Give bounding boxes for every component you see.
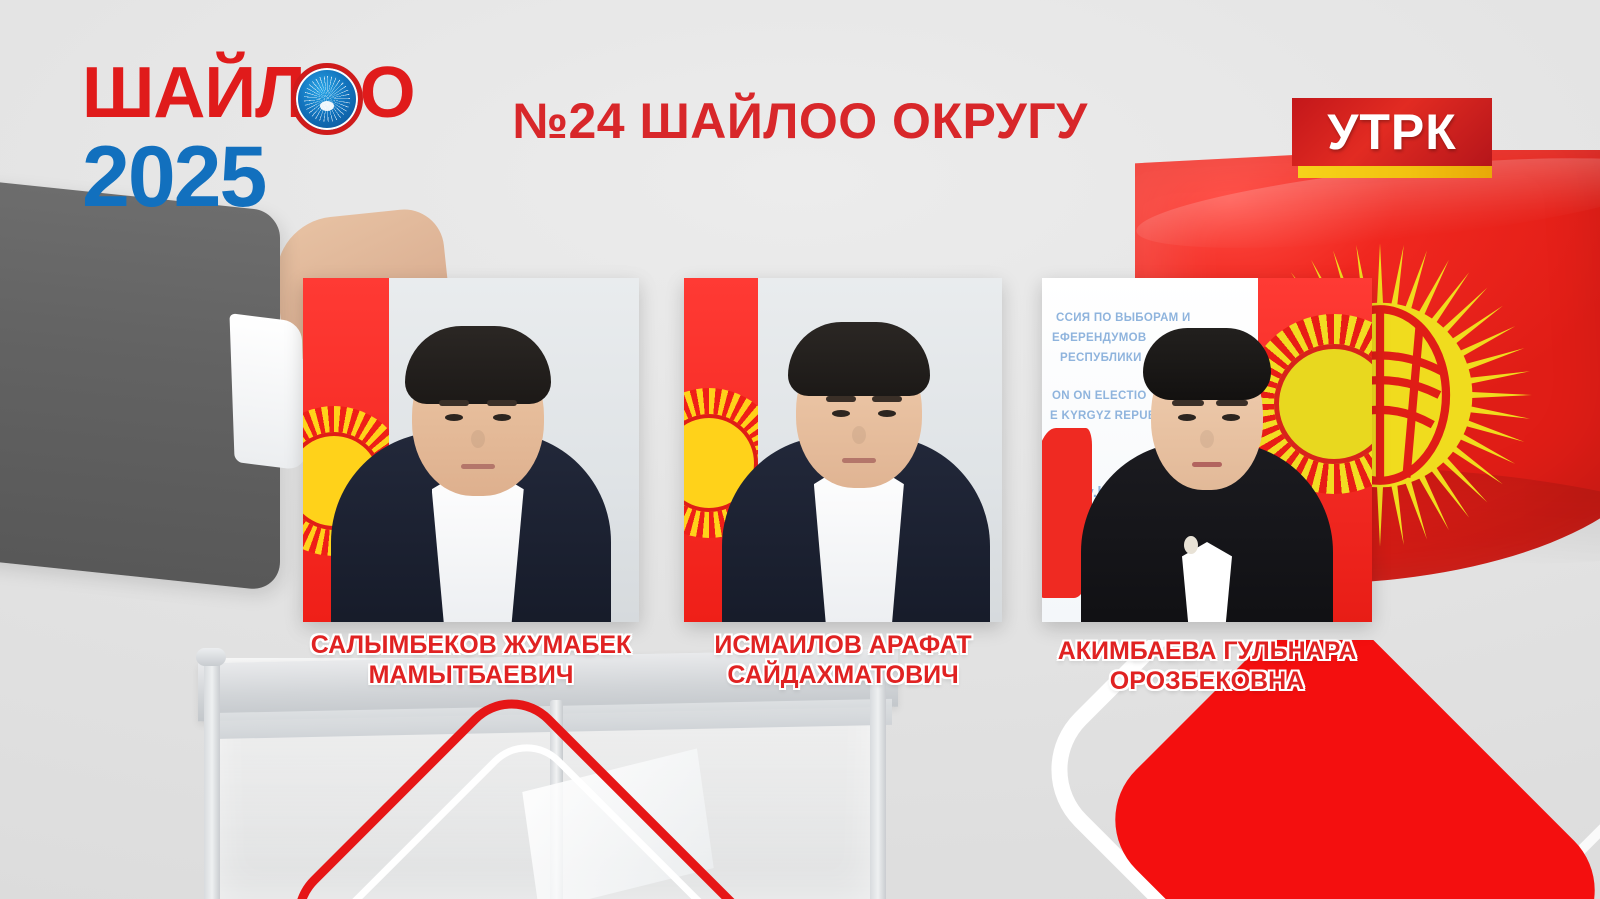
broadcast-graphic-stage: ШАЙЛОО 2025 №24 ШАЙЛОО ОКРУГУ УТРК bbox=[0, 0, 1600, 899]
photo-eye-right bbox=[1222, 414, 1240, 421]
candidate-photo bbox=[303, 278, 639, 622]
candidate-photo bbox=[684, 278, 1002, 622]
photo-hair bbox=[405, 326, 551, 404]
photo-eye-left bbox=[1178, 414, 1196, 421]
photo-hair bbox=[788, 322, 930, 396]
candidate-list: САЛЫМБЕКОВ ЖУМАБЕКМАМЫТБАЕВИЧ ИСМАИЛОВ А… bbox=[0, 0, 1600, 899]
lapel-pin-icon bbox=[1184, 536, 1198, 554]
candidate-name-line2: САЙДАХМАТОВИЧ bbox=[727, 661, 958, 689]
photo-eye-right bbox=[493, 414, 511, 421]
banner-text-ru-3: РЕСПУБЛИКИ bbox=[1060, 352, 1142, 364]
banner-text-ru-1: ССИЯ ПО ВЫБОРАМ И bbox=[1056, 312, 1191, 324]
banner-text-en-2: E KYRGYZ REPUB bbox=[1050, 410, 1156, 422]
photo-brow-right bbox=[1216, 400, 1248, 406]
banner-text-en-1: ON ON ELECTIO bbox=[1052, 390, 1147, 402]
photo-mouth bbox=[1192, 462, 1222, 467]
candidate-name: САЛЫМБЕКОВ ЖУМАБЕКМАМЫТБАЕВИЧ bbox=[261, 630, 681, 690]
banner-text-ru-2: ЕФЕРЕНДУМОВ bbox=[1052, 332, 1146, 344]
photo-brow-left bbox=[1172, 400, 1204, 406]
candidate-photo: ССИЯ ПО ВЫБОРАМ И ЕФЕРЕНДУМОВ РЕСПУБЛИКИ… bbox=[1042, 278, 1372, 622]
candidate-name-line2: МАМЫТБАЕВИЧ bbox=[369, 661, 574, 689]
candidate-card: ИСМАИЛОВ АРАФАТСАЙДАХМАТОВИЧ bbox=[684, 278, 1002, 622]
photo-eye-right bbox=[878, 410, 896, 417]
candidate-name-line1: САЛЫМБЕКОВ ЖУМАБЕК bbox=[311, 631, 632, 659]
photo-brow-right bbox=[487, 400, 517, 406]
photo-mouth bbox=[842, 458, 876, 463]
candidate-name-line2: ОРОЗБЕКОВНА bbox=[1110, 667, 1304, 695]
photo-nose bbox=[1200, 430, 1214, 448]
photo-hair bbox=[1143, 328, 1271, 400]
candidate-card: САЛЫМБЕКОВ ЖУМАБЕКМАМЫТБАЕВИЧ bbox=[303, 278, 639, 622]
photo-brow-right bbox=[872, 396, 902, 402]
candidate-name-line1: ИСМАИЛОВ АРАФАТ bbox=[714, 631, 971, 659]
photo-brow-left bbox=[439, 400, 469, 406]
candidate-name: ИСМАИЛОВ АРАФАТСАЙДАХМАТОВИЧ bbox=[633, 630, 1053, 690]
candidate-card: ССИЯ ПО ВЫБОРАМ И ЕФЕРЕНДУМОВ РЕСПУБЛИКИ… bbox=[1042, 278, 1372, 622]
candidate-name-line1: АКИМБАЕВА ГУЛЬНАРА bbox=[1058, 637, 1357, 665]
photo-nose bbox=[471, 430, 485, 448]
photo-eye-left bbox=[832, 410, 850, 417]
candidate-name: АКИМБАЕВА ГУЛЬНАРАОРОЗБЕКОВНА bbox=[997, 636, 1417, 696]
photo-nose bbox=[852, 426, 866, 444]
photo-brow-left bbox=[826, 396, 856, 402]
photo-eye-left bbox=[445, 414, 463, 421]
photo-blouse bbox=[1182, 542, 1232, 622]
photo-mouth bbox=[461, 464, 495, 469]
